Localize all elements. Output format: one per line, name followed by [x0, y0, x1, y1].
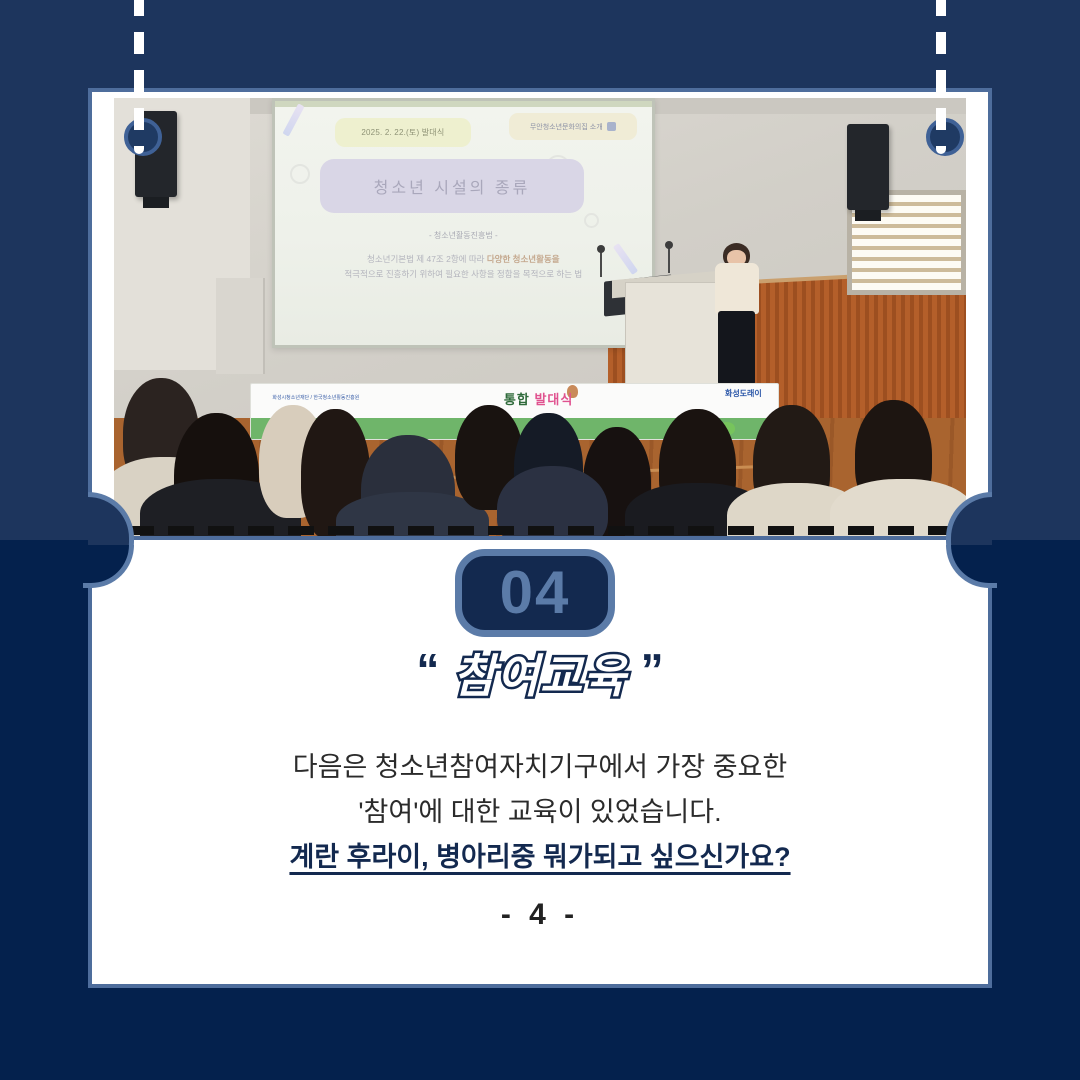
slide-corner-badge: 무안청소년문화의집 소개 — [509, 113, 637, 140]
doodle-circle-2 — [584, 213, 599, 228]
event-photo: 2025. 2. 22.(토) 발대식 무안청소년문화의집 소개 청소년 시설의… — [114, 98, 966, 536]
slide-body-line1b: 다양한 청소년활동을 — [487, 254, 560, 264]
poster-card: 2025. 2. 22.(토) 발대식 무안청소년문화의집 소개 청소년 시설의… — [0, 0, 1080, 1080]
page-number: - 4 - — [0, 898, 1080, 932]
page-title: 참여교육 — [453, 652, 626, 700]
slide-subtitle: - 청소년활동진흥법 - — [275, 230, 652, 241]
podium — [625, 282, 719, 396]
horizontal-dashed-line — [88, 526, 992, 535]
microphone-right — [668, 247, 670, 273]
vertical-dashed-line-right — [936, 0, 946, 154]
presenter-jacket — [715, 263, 759, 314]
banner-title: 통합 발대식 — [504, 389, 573, 408]
wall-speaker-right — [847, 124, 889, 210]
banner-word-1: 통합 — [504, 392, 530, 407]
pen-doodle-left — [282, 104, 304, 137]
photo-frame: 2025. 2. 22.(토) 발대식 무안청소년문화의집 소개 청소년 시설의… — [88, 88, 992, 540]
presenter — [715, 243, 759, 392]
close-quote-mark: ” — [641, 647, 664, 693]
banner-logo-right: 화성도래이 — [725, 388, 762, 399]
banner-word-2: 발대식 — [534, 392, 573, 407]
slide-badge-square-icon — [607, 122, 616, 131]
body-line-2: '참여'에 대한 교육이 있었습니다. — [0, 790, 1080, 835]
slide-title-text: 청소년 시설의 종류 — [374, 174, 531, 198]
banner-logo-left: 화성시청소년재단 / 한국청소년활동진흥원 — [272, 394, 359, 401]
headline-row: “ 참여교육 ” — [0, 652, 1080, 700]
slide-body-line1a: 청소년기본법 제 47조 2항에 따라 — [367, 254, 487, 264]
body-copy: 다음은 청소년참여자치기구에서 가장 중요한 '참여'에 대한 교육이 있었습니… — [0, 745, 1080, 834]
slide-body-line2: 적극적으로 진흥하기 위하여 필요한 사항을 정함을 목적으로 하는 법 — [344, 269, 582, 279]
emphasis-line: 계란 후라이, 병아리중 뭐가되고 싶으신가요? — [0, 835, 1080, 874]
body-line-1: 다음은 청소년참여자치기구에서 가장 중요한 — [0, 745, 1080, 790]
projection-screen: 2025. 2. 22.(토) 발대식 무안청소년문화의집 소개 청소년 시설의… — [272, 98, 655, 348]
doodle-circle-1 — [290, 164, 310, 184]
section-number: 04 — [500, 563, 571, 623]
presenter-trousers — [718, 311, 755, 385]
slide-date-text: 2025. 2. 22.(토) 발대식 — [361, 127, 444, 138]
pillar — [216, 278, 265, 374]
section-number-badge: 04 — [455, 549, 615, 637]
slide-body: 청소년기본법 제 47조 2항에 따라 다양한 청소년활동을 적극적으로 진흥하… — [290, 252, 637, 281]
slide-top-band — [275, 101, 652, 107]
slide-corner-badge-text: 무안청소년문화의집 소개 — [530, 122, 603, 132]
microphone-left — [600, 251, 602, 277]
slide-title-box: 청소년 시설의 종류 — [320, 159, 584, 213]
open-quote-mark: “ — [416, 647, 439, 693]
slide-date-chip: 2025. 2. 22.(토) 발대식 — [335, 118, 471, 147]
vertical-dashed-line-left — [134, 0, 144, 154]
